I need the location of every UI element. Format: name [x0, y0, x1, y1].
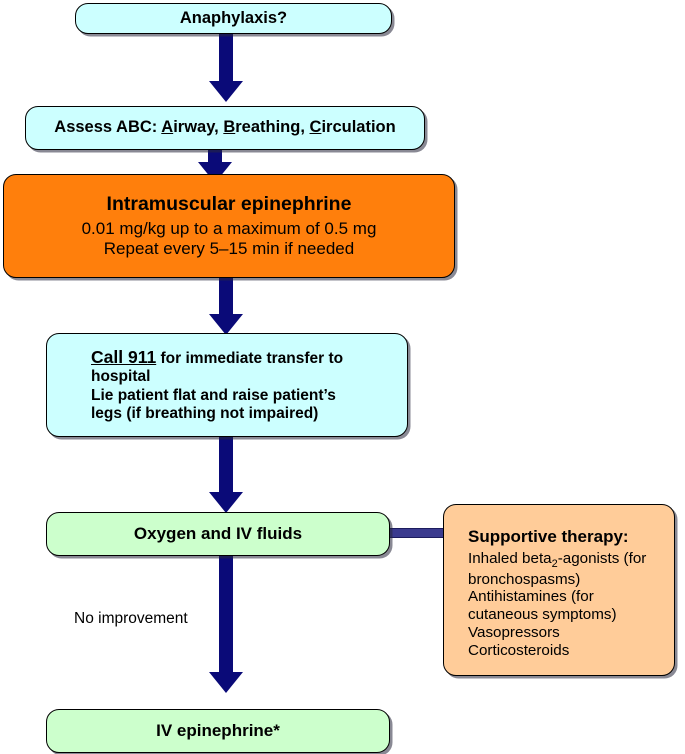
edge-label-no-improvement: No improvement: [74, 610, 188, 628]
assess-abc-c-letter: C: [310, 118, 322, 136]
node-call-911[interactable]: Call 911 for immediate transfer to hospi…: [46, 333, 408, 437]
supportive-therapy-heading: Supportive therapy:: [468, 527, 660, 547]
supportive-therapy-item-beta2-agonists: Inhaled beta2-agonists (for bronchospasm…: [468, 550, 660, 589]
supportive-therapy-item-antihistamines: Antihistamines (for cutaneous symptoms): [468, 588, 660, 624]
supportive-therapy-item-corticosteroids: Corticosteroids: [468, 642, 660, 660]
assess-abc-prefix: Assess ABC:: [54, 118, 161, 136]
call-911-line-2: Lie patient flat and raise patient’s leg…: [91, 387, 365, 423]
assess-abc-b-rest: reathing,: [235, 118, 309, 136]
node-intramuscular-epinephrine[interactable]: Intramuscular epinephrine 0.01 mg/kg up …: [3, 174, 455, 278]
node-anaphylaxis[interactable]: Anaphylaxis?: [75, 3, 392, 34]
assess-abc-c-rest: irculation: [321, 118, 395, 136]
node-assess-abc-label: Assess ABC: Airway, Breathing, Circulati…: [26, 118, 424, 137]
im-epi-heading: Intramuscular epinephrine: [14, 193, 444, 216]
call-911-emphasis: Call 911: [91, 347, 156, 367]
node-oxygen-and-iv-fluids[interactable]: Oxygen and IV fluids: [46, 512, 390, 556]
arrow-head-im-epi-to-call911: [209, 314, 243, 335]
flowchart-canvas: Anaphylaxis? Assess ABC: Airway, Breathi…: [0, 0, 685, 754]
assess-abc-a-rest: irway,: [173, 118, 223, 136]
node-iv-epinephrine-label: IV epinephrine*: [47, 721, 389, 741]
node-anaphylaxis-label: Anaphylaxis?: [76, 9, 391, 28]
beta2-pre: Inhaled beta: [468, 550, 552, 567]
arrow-head-anaphylaxis-to-abc: [209, 81, 243, 102]
assess-abc-b-letter: B: [223, 118, 235, 136]
im-epi-repeat: Repeat every 5–15 min if needed: [14, 239, 444, 259]
node-supportive-therapy[interactable]: Supportive therapy: Inhaled beta2-agonis…: [443, 504, 675, 676]
node-iv-epinephrine[interactable]: IV epinephrine*: [46, 709, 390, 753]
arrow-shaft-call911-to-oxygen: [219, 436, 233, 498]
arrow-head-call911-to-oxygen: [209, 492, 243, 513]
supportive-therapy-item-vasopressors: Vasopressors: [468, 624, 660, 642]
call-911-line-1: Call 911 for immediate transfer to hospi…: [91, 347, 365, 386]
node-oxygen-and-iv-fluids-label: Oxygen and IV fluids: [47, 524, 389, 544]
arrow-head-oxygen-to-iv-epi: [209, 672, 243, 693]
assess-abc-a-letter: A: [161, 118, 173, 136]
connector-oxygen-to-supportive-therapy: [388, 528, 450, 538]
arrow-shaft-anaphylaxis-to-abc: [219, 33, 233, 83]
im-epi-dose: 0.01 mg/kg up to a maximum of 0.5 mg: [14, 219, 444, 239]
node-assess-abc[interactable]: Assess ABC: Airway, Breathing, Circulati…: [25, 106, 425, 150]
